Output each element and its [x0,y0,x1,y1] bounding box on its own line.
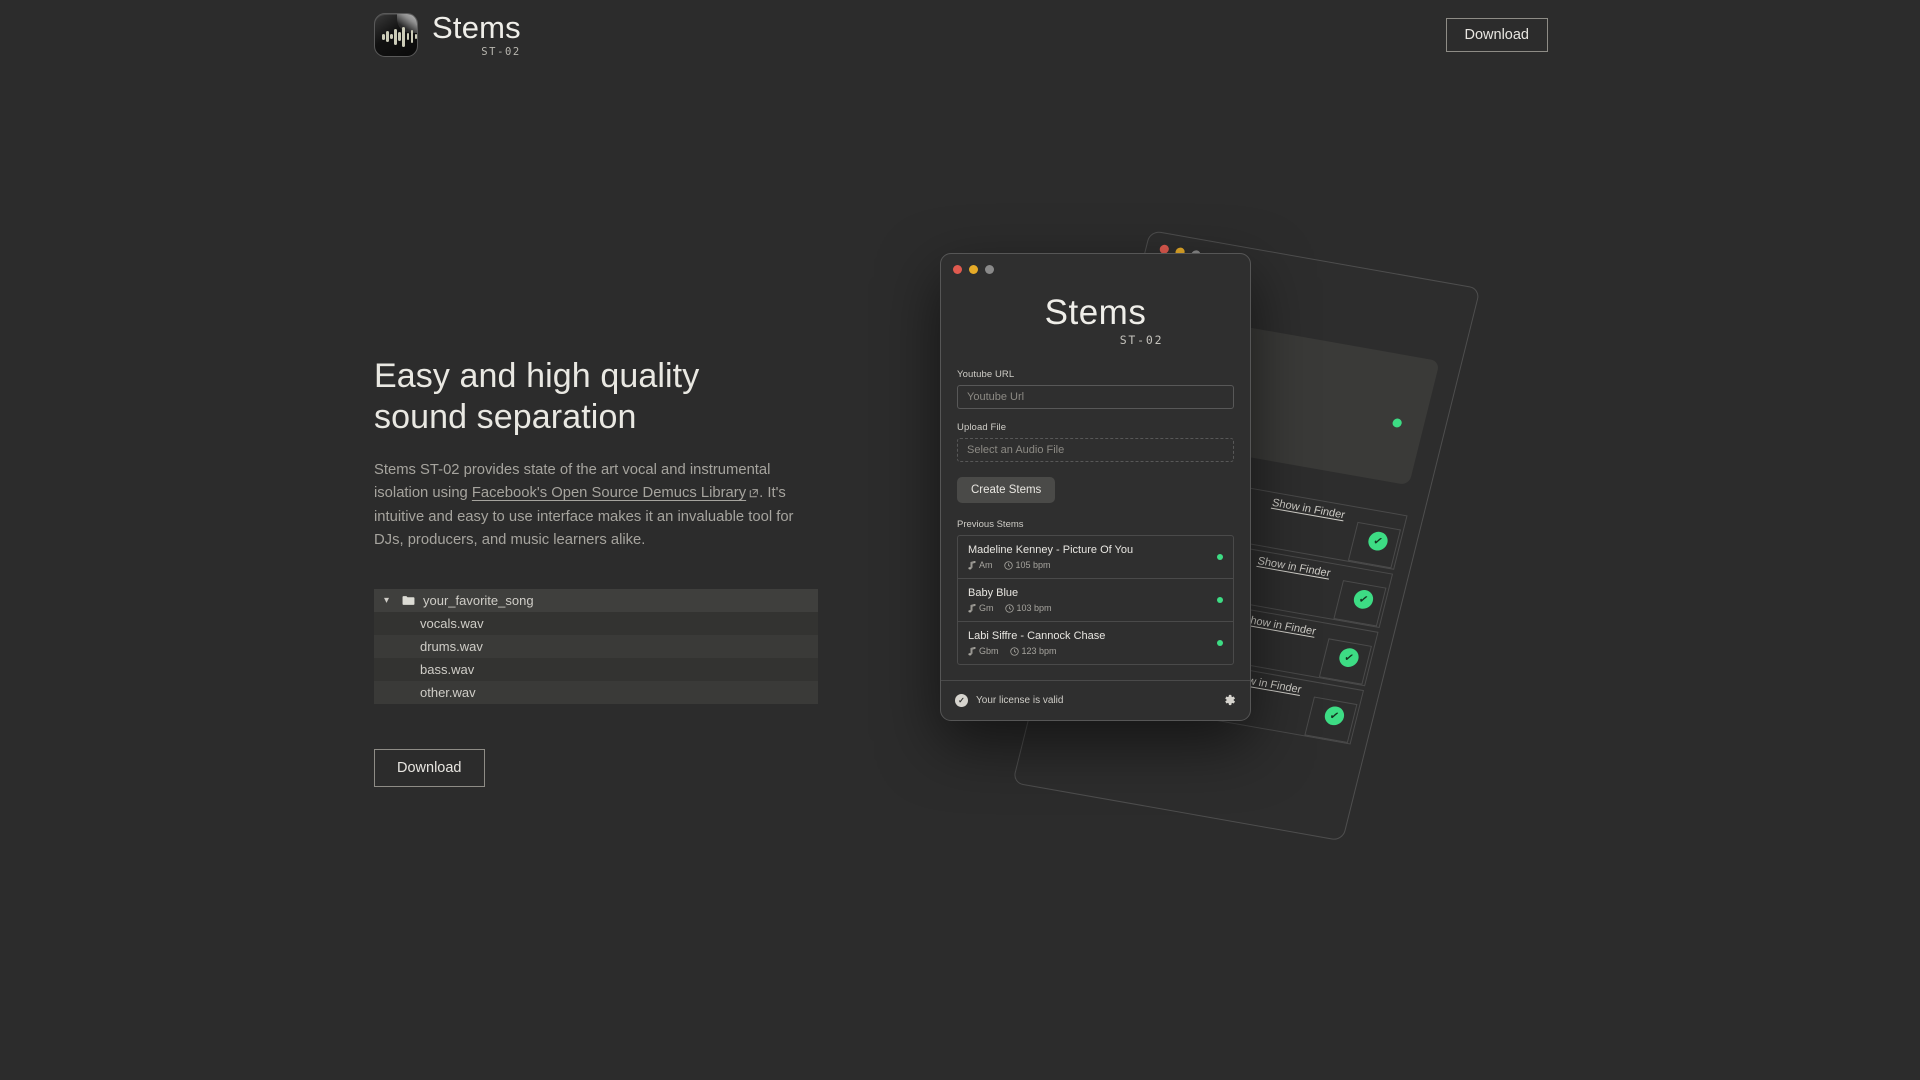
license-status: ✓ Your license is valid [955,694,1063,707]
file-tree-item[interactable]: vocals.wav [374,612,818,635]
previous-stems-list: Madeline Kenney - Picture Of You Am 105 … [957,535,1234,665]
file-tree: ▾ your_favorite_song vocals.wav drums.wa… [374,589,818,704]
upload-file-group: Upload File Select an Audio File [957,422,1234,462]
app-window-form: Youtube URL Youtube Url Upload File Sele… [941,347,1250,665]
app-window-statusbar: ✓ Your license is valid [941,680,1250,720]
chevron-down-icon[interactable]: ▾ [384,595,398,606]
status-dot [1217,640,1223,646]
close-icon[interactable] [953,265,962,274]
folder-icon [402,595,415,606]
file-tree-root-label: your_favorite_song [423,593,534,608]
maximize-icon[interactable] [985,265,994,274]
stem-key-label: Gm [979,603,994,613]
music-note-icon [968,604,976,613]
stem-meta: Gbm 123 bpm [968,646,1223,656]
brand-logo[interactable]: Stems ST-02 [374,12,521,58]
file-tree-item-label: drums.wav [420,639,483,654]
file-tree-item-label: other.wav [420,685,476,700]
stem-meta: Am 105 bpm [968,560,1223,570]
previous-stems-label: Previous Stems [957,519,1234,530]
file-tree-item[interactable]: other.wav [374,681,818,704]
hero-download-button[interactable]: Download [374,749,485,787]
brand-subtitle: ST-02 [481,46,521,58]
metronome-icon [1004,561,1013,570]
header-download-button[interactable]: Download [1446,18,1549,52]
brand-title: Stems [432,12,521,45]
gear-icon[interactable] [1222,693,1236,709]
stem-title: Labi Siffre - Cannock Chase [968,630,1223,642]
stem-key: Gm [968,603,994,613]
stem-bpm: 123 bpm [1010,646,1057,656]
status-dot [1217,597,1223,603]
show-in-finder-link[interactable]: Show in Finder [1242,613,1317,637]
show-in-finder-link[interactable]: Show in Finder [1271,497,1346,521]
stem-bpm: 103 bpm [1005,603,1052,613]
youtube-url-input[interactable]: Youtube Url [957,385,1234,409]
status-dot [1217,554,1223,560]
list-item[interactable]: Baby Blue Gm 103 bpm [958,579,1233,622]
youtube-url-label: Youtube URL [957,369,1234,380]
stem-key: Gbm [968,646,999,656]
file-tree-item[interactable]: drums.wav [374,635,818,658]
status-dot [1392,418,1403,428]
page-title: Easy and high quality sound separation [374,356,844,439]
external-link-icon [749,483,759,506]
stems-app-icon [374,13,418,57]
demucs-library-link[interactable]: Facebook's Open Source Demucs Library [472,485,746,501]
app-screenshot-stack: nnock Show in Finder ✓ Show in Finder ✓ … [940,230,1560,870]
file-tree-item-label: vocals.wav [420,616,484,631]
music-note-icon [968,647,976,656]
music-note-icon [968,561,976,570]
file-tree-item-label: bass.wav [420,662,474,677]
upload-file-dropzone[interactable]: Select an Audio File [957,438,1234,462]
app-window-title: Stems [941,295,1250,330]
create-stems-button[interactable]: Create Stems [957,477,1055,503]
site-header: Stems ST-02 Download [0,0,1920,78]
stem-bpm-label: 105 bpm [1016,560,1051,570]
stem-key-label: Am [979,560,993,570]
stem-bpm-label: 123 bpm [1022,646,1057,656]
waveform-icon [382,27,417,47]
file-tree-root-row[interactable]: ▾ your_favorite_song [374,589,818,612]
license-status-label: Your license is valid [976,695,1063,706]
stem-bpm: 105 bpm [1004,560,1051,570]
file-tree-item[interactable]: bass.wav [374,658,818,681]
youtube-url-group: Youtube URL Youtube Url [957,369,1234,409]
metronome-icon [1010,647,1019,656]
stems-app-window: Stems ST-02 Youtube URL Youtube Url Uplo… [940,253,1251,721]
brand-text: Stems ST-02 [432,12,521,58]
stem-meta: Gm 103 bpm [968,603,1223,613]
window-traffic-lights [953,265,994,274]
minimize-icon[interactable] [969,265,978,274]
stem-title: Madeline Kenney - Picture Of You [968,544,1223,556]
show-in-finder-link[interactable]: Show in Finder [1256,555,1331,579]
stem-key: Am [968,560,993,570]
list-item[interactable]: Madeline Kenney - Picture Of You Am 105 … [958,536,1233,579]
metronome-icon [1005,604,1014,613]
hero-description: Stems ST-02 provides state of the art vo… [374,459,824,552]
stem-key-label: Gbm [979,646,999,656]
hero-copy: Easy and high quality sound separation S… [374,356,844,552]
landing-page: Stems ST-02 Download Easy and high quali… [0,0,1920,1080]
app-window-subtitle: ST-02 [1033,333,1250,347]
stem-bpm-label: 103 bpm [1017,603,1052,613]
stem-title: Baby Blue [968,587,1223,599]
list-item[interactable]: Labi Siffre - Cannock Chase Gbm 123 bpm [958,622,1233,664]
check-circle-icon: ✓ [955,694,968,707]
page-title-line2: sound separation [374,398,636,436]
upload-file-label: Upload File [957,422,1234,433]
page-title-line1: Easy and high quality [374,357,699,395]
